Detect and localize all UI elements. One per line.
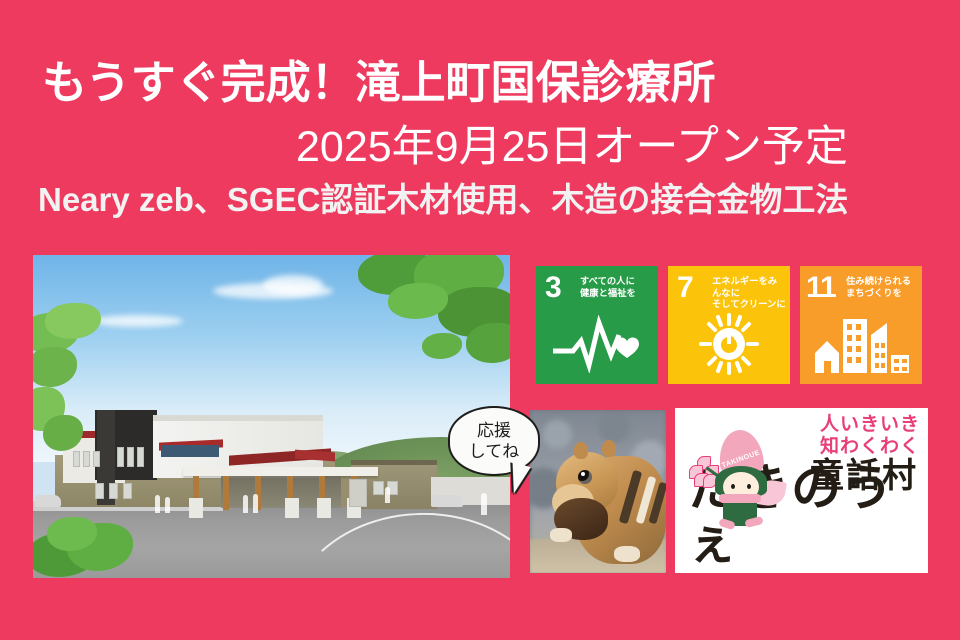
poster-root: もうすぐ完成！滝上町国保診療所 2025年9月25日オープン予定 Neary z…: [0, 0, 960, 640]
speech-bubble: 応援 してね: [448, 406, 540, 476]
building-right-parapet: [351, 460, 437, 465]
takinoue-logo-card: 人いきいき 知わくわく 童話村 たきのうぇ TAKINOUE: [675, 408, 928, 573]
logo-tagline-line2: 知わくわく: [820, 436, 920, 458]
sdg-badge-11: 11 住み続けられる まちづくりを: [800, 266, 922, 384]
person-silhouette: [385, 487, 390, 503]
person-silhouette: [165, 497, 170, 513]
logo-tagline-line1: 人いきいき: [820, 414, 920, 436]
column-base: [189, 498, 203, 518]
sun-power-icon: [668, 312, 790, 376]
cloud: [263, 275, 323, 295]
sdg-badge-3: 3 すべての人に 健康と福祉を: [536, 266, 658, 384]
side-entrance-door: [349, 479, 367, 507]
mascot-scarf: [719, 494, 761, 503]
sdg-caption: エネルギーをみんなに そしてクリーンに: [712, 276, 786, 311]
sdg-caption: すべての人に 健康と福祉を: [580, 276, 654, 299]
window: [109, 483, 118, 499]
sdg-number: 7: [677, 273, 694, 303]
sdg-badge-row: 3 すべての人に 健康と福祉を 7 エネルギーをみんなに そしてクリーンに: [536, 266, 922, 384]
tree-foliage-left: [33, 303, 131, 463]
sdg-caption: 住み続けられる まちづくりを: [846, 276, 918, 299]
mascot-eye: [747, 484, 751, 489]
building-window-strip: [161, 445, 219, 457]
open-date-text: 2025年9月25日オープン予定: [296, 123, 848, 171]
logo-tagline: 人いきいき 知わくわく: [820, 414, 920, 458]
mascot-illustration: TAKINOUE: [689, 430, 789, 530]
sdg-number: 11: [806, 273, 836, 303]
building-parapet: [153, 415, 323, 421]
mascot-eye: [731, 484, 735, 489]
car: [431, 495, 463, 507]
window: [137, 447, 144, 467]
city-buildings-icon: [800, 312, 922, 376]
bush: [33, 517, 147, 578]
chipmunk-photo: [530, 410, 666, 573]
chipmunk-paw: [550, 528, 572, 542]
window: [95, 483, 104, 499]
entrance-canopy: [183, 467, 378, 476]
column-base: [317, 498, 331, 518]
building-rendering-photo: [33, 255, 510, 578]
window: [123, 483, 132, 499]
person-silhouette: [253, 494, 258, 513]
chipmunk-ear: [602, 440, 616, 457]
heartbeat-icon: [536, 312, 658, 376]
wood-column: [223, 476, 229, 510]
person-silhouette: [243, 495, 248, 513]
sdg-number: 3: [545, 273, 562, 303]
sdg-badge-7: 7 エネルギーをみんなに そしてクリーンに: [668, 266, 790, 384]
car: [35, 495, 61, 507]
speech-bubble-text: 応援 してね: [469, 420, 520, 462]
person-silhouette: [481, 493, 487, 515]
person-silhouette: [155, 495, 160, 513]
subtitle-spec-text: Neary zeb、SGEC認証木材使用、木造の接合金物工法: [38, 181, 848, 219]
speech-bubble-tail: [504, 462, 531, 496]
chipmunk-eye: [578, 470, 592, 484]
page-title: もうすぐ完成！滝上町国保診療所: [42, 58, 716, 108]
chipmunk-ear: [574, 442, 588, 459]
chipmunk-paw: [614, 546, 640, 562]
window: [373, 481, 384, 495]
column-base: [285, 498, 299, 518]
tree-foliage-right: [318, 255, 510, 387]
